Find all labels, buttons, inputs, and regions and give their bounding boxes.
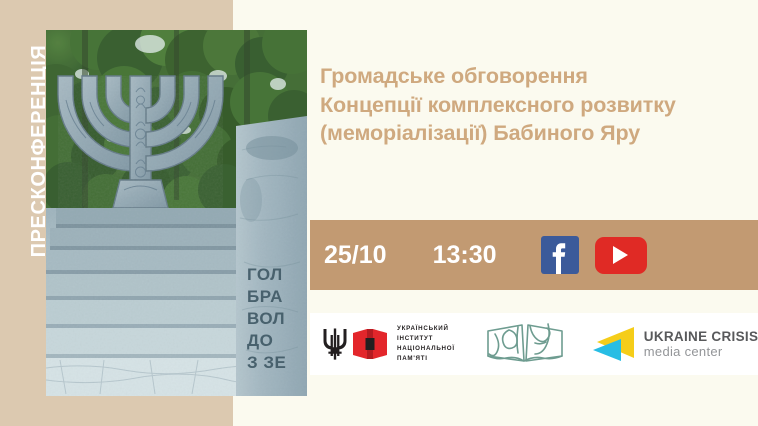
uinp-wordmark: УКРАЇНСЬКИЙ ІНСТИТУТ НАЦІОНАЛЬНОЇ ПАМ'ЯТ…: [397, 324, 455, 364]
social-links: [541, 236, 647, 274]
babyn-yar-monument-photo: ГОЛ БРА ВОЛ ДО З ЗЕ: [46, 30, 307, 396]
logo-ukraine-crisis-media-center: UKRAINE CRISIS media center: [591, 325, 758, 363]
ucmc-line-1: UKRAINE CRISIS: [644, 330, 758, 344]
ucmc-wordmark: UKRAINE CRISIS media center: [644, 330, 758, 359]
uinp-line-2: ІНСТИТУТ: [397, 334, 455, 344]
event-info-bar: 25/10 13:30: [310, 220, 758, 290]
uinp-line-4: ПАМ'ЯТІ: [397, 354, 455, 364]
uinp-line-3: НАЦІОНАЛЬНОЇ: [397, 344, 455, 354]
open-book-script-icon: [485, 321, 565, 367]
partner-logos-strip: УКРАЇНСЬКИЙ ІНСТИТУТ НАЦІОНАЛЬНОЇ ПАМ'ЯТ…: [310, 313, 758, 375]
ucmc-line-2: media center: [644, 345, 758, 358]
open-book-red-icon: [353, 329, 387, 359]
facebook-icon[interactable]: [541, 236, 579, 274]
press-conference-poster: ПРЕСКОНФЕРЕНЦІЯ: [0, 0, 758, 426]
poster-title: Громадське обговорення Концепції комплек…: [320, 62, 740, 148]
title-line-2: Концепції комплексного розвитку: [320, 91, 740, 120]
logo-open-book: [485, 321, 565, 367]
event-time: 13:30: [433, 241, 497, 270]
logo-ukrainian-institute-of-national-remembrance: УКРАЇНСЬКИЙ ІНСТИТУТ НАЦІОНАЛЬНОЇ ПАМ'ЯТ…: [322, 324, 455, 364]
event-date: 25/10: [324, 241, 387, 270]
youtube-icon[interactable]: [595, 237, 647, 274]
title-line-1: Громадське обговорення: [320, 62, 740, 91]
title-line-3: (меморіалізації) Бабиного Яру: [320, 119, 740, 148]
ucmc-arrow-icon: [591, 325, 635, 363]
trident-icon: [322, 327, 348, 361]
uinp-line-1: УКРАЇНСЬКИЙ: [397, 324, 455, 334]
